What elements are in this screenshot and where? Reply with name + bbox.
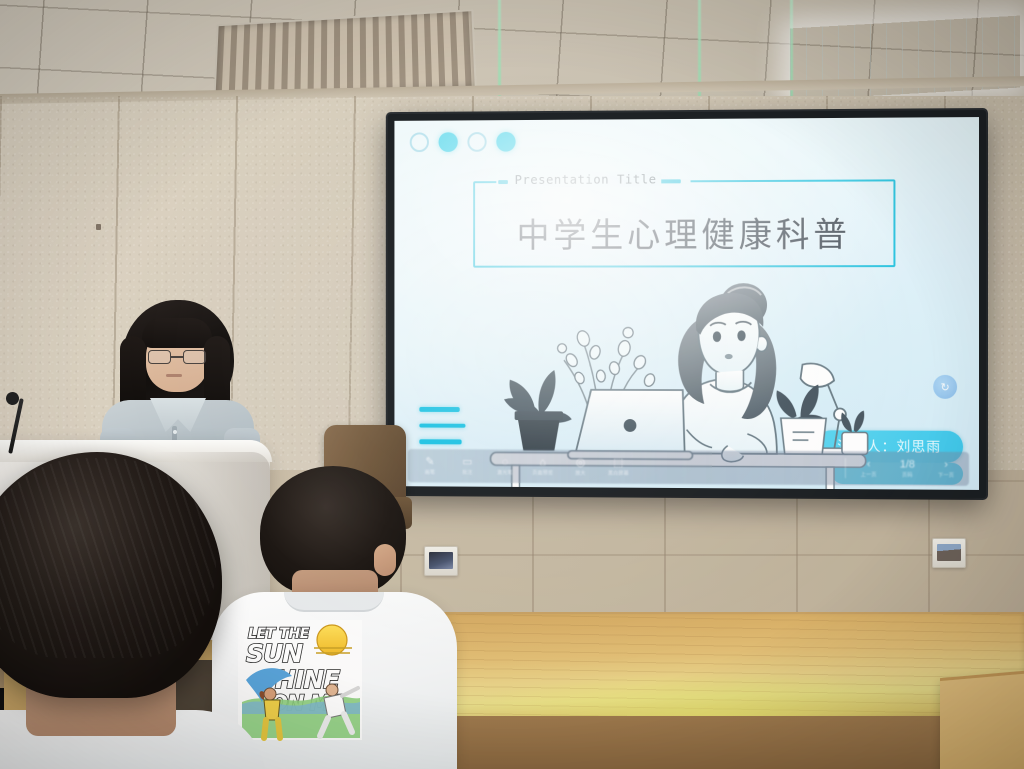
annotate-icon: ▭ [462, 457, 472, 468]
wall-control-box-right[interactable] [932, 538, 966, 568]
chevron-right-icon: › [944, 459, 948, 470]
audience-student-left [0, 452, 270, 769]
toolbar-next-slide-button[interactable]: › 下一页 [933, 459, 959, 478]
wooden-bench-desk [412, 612, 1024, 722]
page-preview-icon: ⌂ [539, 457, 545, 468]
toolbar-zoom-button[interactable]: ◎ 放大 [568, 457, 593, 476]
toolbar-prev-slide-button[interactable]: ‹ 上一页 [856, 459, 882, 478]
student-left-hair [0, 452, 222, 698]
bench-base-panel [412, 716, 1024, 769]
toolbar-blackscreen-button[interactable]: ⬚ 黑白屏幕 [606, 457, 631, 476]
toolbar-spacer [641, 467, 845, 468]
glasses-bridge [171, 356, 183, 358]
presenter-button-1 [173, 430, 177, 434]
page-number-value: 1/8 [900, 459, 915, 470]
slide-refresh-icon[interactable]: ↻ [933, 375, 957, 399]
slide-dots-decoration [410, 132, 516, 152]
classroom-scene: Presentation Title 中学生心理健康科普 ↻ 汇报人：刘思雨 [0, 0, 1024, 769]
toolbar-nav-group: ‹ 上一页 1/8 页码 › 下一页 [846, 459, 969, 479]
black-screen-icon: ⬚ [613, 457, 623, 468]
toolbar-blackscreen-label: 黑白屏幕 [608, 469, 629, 476]
toolbar-annotate-label: 批注 [462, 468, 472, 475]
toolbar-next-label: 下一页 [938, 471, 954, 478]
slide-title-frame: Presentation Title 中学生心理健康科普 [473, 179, 895, 267]
slide-dot-3 [467, 132, 486, 152]
slide-dot-2 [439, 132, 458, 152]
toolbar-laser-label: 激光笔 [497, 469, 513, 476]
wall-box-screen-right [937, 544, 961, 561]
toolbar-preview-button[interactable]: ⌂ 页面预览 [530, 457, 555, 476]
slide-eyebrow-label: Presentation Title [510, 172, 662, 187]
magnify-icon: ◎ [576, 457, 585, 468]
student-right-ear [374, 544, 396, 576]
toolbar-zoom-label: 放大 [575, 469, 585, 476]
student-right-collar [284, 592, 384, 612]
side-bar-2 [419, 423, 465, 428]
presenter-mouth [166, 374, 182, 377]
toolbar-laser-button[interactable]: ◌ 激光笔 [492, 457, 517, 476]
laser-pointer-icon: ◌ [502, 457, 508, 468]
bench-light-reflection [452, 672, 992, 718]
glasses-lens-left [148, 350, 171, 364]
chevron-left-icon: ‹ [867, 459, 871, 470]
slide-title: 中学生心理健康科普 [475, 207, 893, 257]
slide-dot-4 [496, 132, 515, 152]
toolbar-page-indicator[interactable]: 1/8 页码 [894, 459, 920, 478]
presenter-glasses [148, 350, 206, 364]
frame-dash-left [498, 180, 508, 184]
wall-fixture-dot [96, 224, 101, 230]
glasses-lens-right [183, 350, 206, 364]
slide-dot-1 [410, 132, 429, 152]
student-left-hair-strands [0, 458, 216, 658]
presenter-fringe [142, 318, 212, 348]
projection-screen[interactable]: Presentation Title 中学生心理健康科普 ↻ 汇报人：刘思雨 [388, 110, 986, 498]
side-bar-3 [419, 439, 461, 444]
side-bar-1 [419, 407, 459, 412]
toolbar-prev-label: 上一页 [861, 471, 877, 478]
right-desk [940, 666, 1024, 769]
presentation-toolbar[interactable]: ✎ 画笔 ▭ 批注 ◌ 激光笔 ⌂ 页面预览 [408, 449, 969, 486]
slide-canvas: Presentation Title 中学生心理健康科普 ↻ 汇报人：刘思雨 [394, 117, 979, 490]
toolbar-preview-label: 页面预览 [532, 469, 553, 476]
toolbar-page-label: 页码 [902, 471, 913, 478]
